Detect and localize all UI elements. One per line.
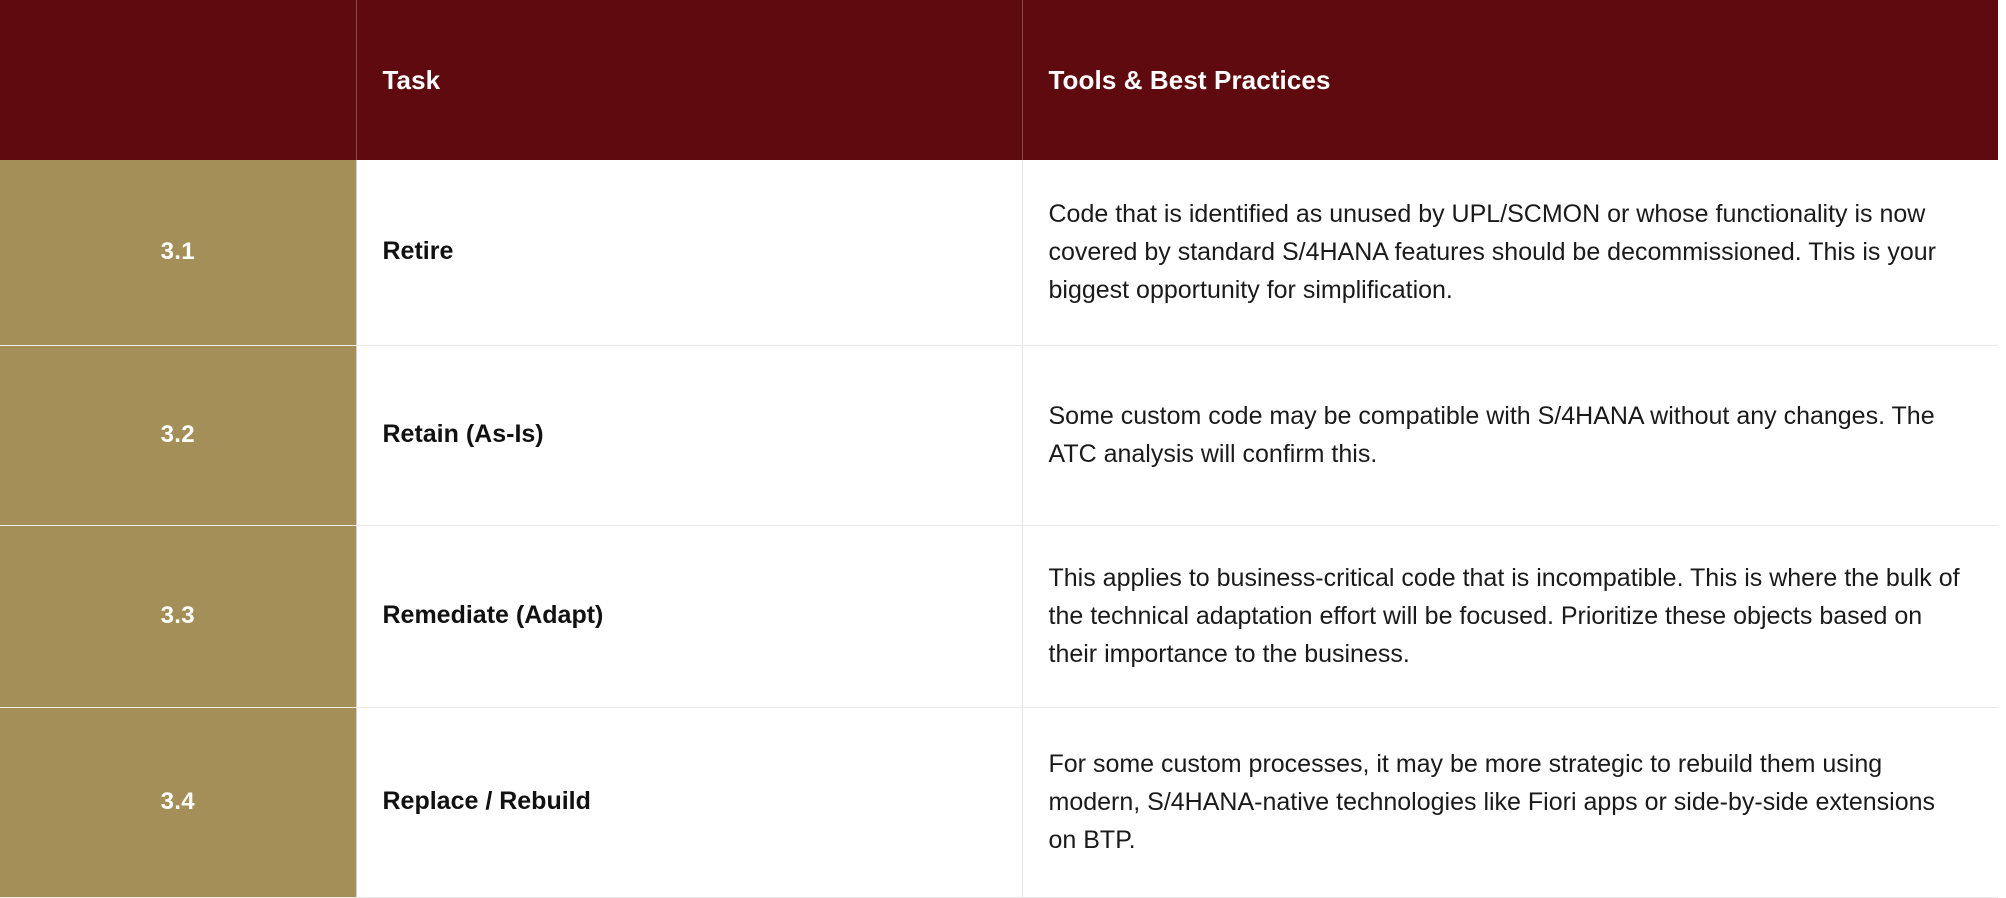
table-container: Task Tools & Best Practices 3.1 Retire C…: [0, 0, 2006, 894]
table-row: 3.4 Replace / Rebuild For some custom pr…: [0, 707, 1998, 897]
table-row: 3.3 Remediate (Adapt) This applies to bu…: [0, 525, 1998, 707]
table-row: 3.1 Retire Code that is identified as un…: [0, 160, 1998, 345]
row-task-label: Retire: [356, 160, 1022, 345]
row-description-text: Code that is identified as unused by UPL…: [1022, 160, 1998, 345]
row-description-text: Some custom code may be compatible with …: [1022, 345, 1998, 525]
table-body: 3.1 Retire Code that is identified as un…: [0, 160, 1998, 897]
row-number-badge: 3.2: [0, 345, 356, 525]
table-header: Task Tools & Best Practices: [0, 0, 1998, 160]
column-header-task: Task: [356, 0, 1022, 160]
row-task-label: Replace / Rebuild: [356, 707, 1022, 897]
table-row: 3.2 Retain (As-Is) Some custom code may …: [0, 345, 1998, 525]
row-task-label: Remediate (Adapt): [356, 525, 1022, 707]
row-number-badge: 3.1: [0, 160, 356, 345]
row-task-label: Retain (As-Is): [356, 345, 1022, 525]
header-row: Task Tools & Best Practices: [0, 0, 1998, 160]
column-header-tools-best-practices: Tools & Best Practices: [1022, 0, 1998, 160]
column-header-number: [0, 0, 356, 160]
row-description-text: For some custom processes, it may be mor…: [1022, 707, 1998, 897]
row-description-text: This applies to business-critical code t…: [1022, 525, 1998, 707]
custom-code-disposition-table: Task Tools & Best Practices 3.1 Retire C…: [0, 0, 1998, 898]
row-number-badge: 3.4: [0, 707, 356, 897]
row-number-badge: 3.3: [0, 525, 356, 707]
